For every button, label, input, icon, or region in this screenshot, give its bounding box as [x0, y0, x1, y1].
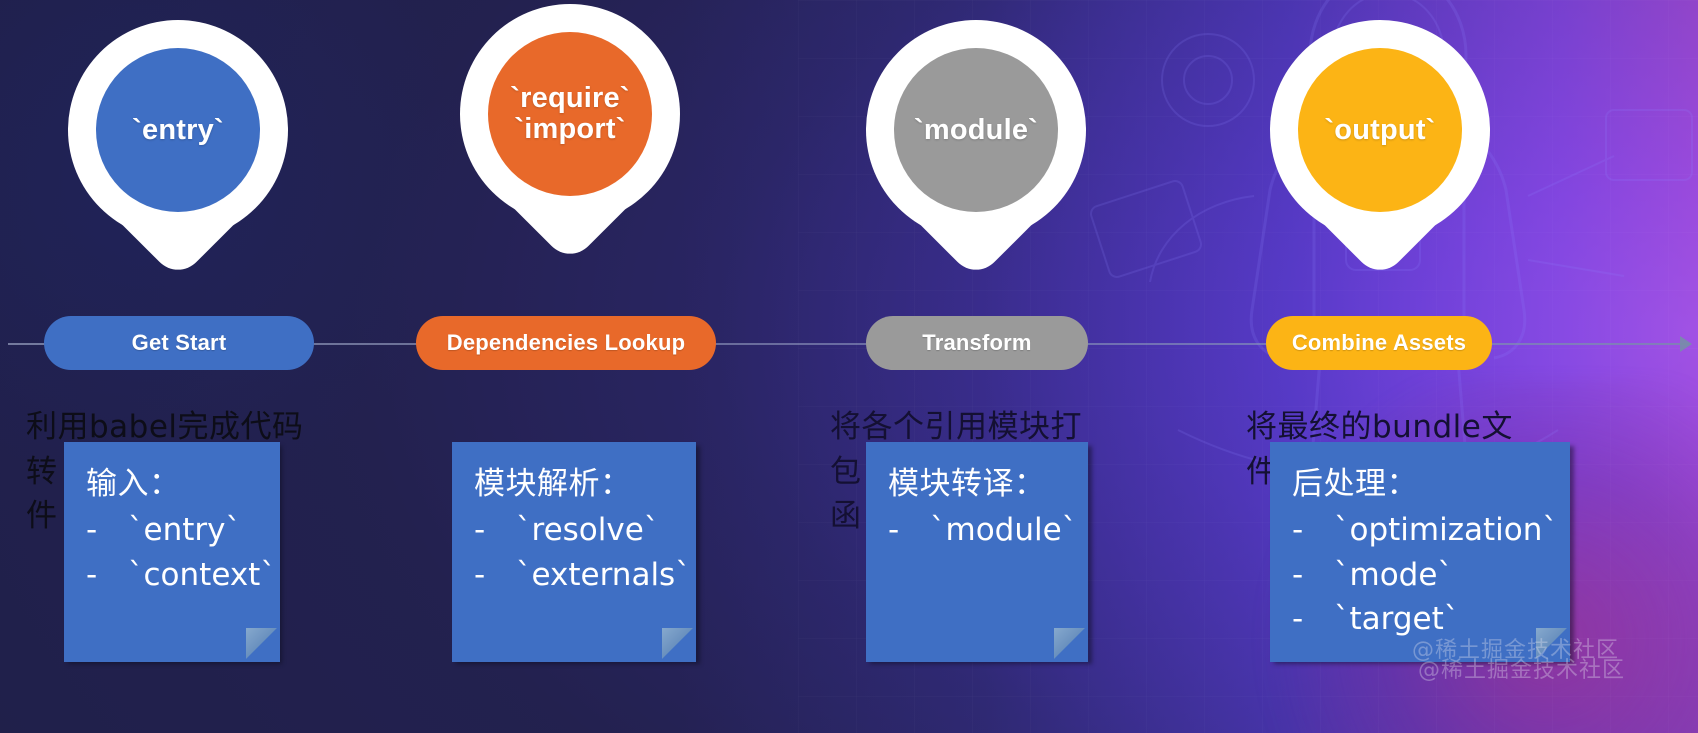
list-item: - `mode`: [1292, 555, 1550, 595]
card-fold-corner-icon: [1054, 628, 1088, 662]
card-dependencies-item-0: `resolve`: [516, 510, 659, 550]
pill-transform[interactable]: Transform: [866, 316, 1088, 370]
card-dependencies-title: 模块解析：: [474, 464, 676, 504]
slide-canvas: `entry` Get Start 利用babel完成代码 转 件 输入： - …: [0, 0, 1698, 733]
card-dependencies-list: - `resolve` - `externals`: [474, 510, 676, 595]
pin-require-import[interactable]: `require` `import`: [460, 4, 680, 294]
list-item: - `externals`: [474, 555, 676, 595]
pin-entry[interactable]: `entry`: [68, 20, 288, 310]
pin-require-import-label: `require` `import`: [488, 32, 652, 196]
card-output-item-1: `mode`: [1334, 555, 1453, 595]
bullet-dash: -: [86, 555, 102, 595]
pin-output[interactable]: `output`: [1270, 20, 1490, 310]
pill-combine-assets-label: Combine Assets: [1292, 330, 1466, 356]
list-item: - `module`: [888, 510, 1068, 550]
pin-require-line-1: `require`: [510, 83, 629, 114]
pill-get-start[interactable]: Get Start: [44, 316, 314, 370]
card-fold-corner-icon: [662, 628, 696, 662]
list-item: - `context`: [86, 555, 260, 595]
card-entry-title: 输入：: [86, 464, 260, 504]
pin-output-line-1: `output`: [1324, 115, 1435, 146]
pill-dependencies-lookup-label: Dependencies Lookup: [447, 330, 686, 356]
card-transform-title: 模块转译：: [888, 464, 1068, 504]
pin-module[interactable]: `module`: [866, 20, 1086, 310]
bullet-dash: -: [1292, 510, 1308, 550]
pin-output-label: `output`: [1298, 48, 1462, 212]
bullet-dash: -: [86, 510, 102, 550]
bullet-dash: -: [888, 510, 904, 550]
pill-dependencies-lookup[interactable]: Dependencies Lookup: [416, 316, 716, 370]
list-item: - `optimization`: [1292, 510, 1550, 550]
bullet-dash: -: [1292, 555, 1308, 595]
card-entry: 输入： - `entry` - `context`: [64, 442, 280, 662]
card-dependencies: 模块解析： - `resolve` - `externals`: [452, 442, 696, 662]
pin-entry-label: `entry`: [96, 48, 260, 212]
card-transform: 模块转译： - `module`: [866, 442, 1088, 662]
card-entry-item-1: `context`: [128, 555, 276, 595]
card-output-title: 后处理：: [1292, 464, 1550, 504]
pill-get-start-label: Get Start: [132, 330, 227, 356]
card-entry-list: - `entry` - `context`: [86, 510, 260, 595]
timeline-arrow-icon: [1680, 336, 1692, 352]
pill-transform-label: Transform: [922, 330, 1031, 356]
card-transform-item-0: `module`: [930, 510, 1077, 550]
list-item: - `resolve`: [474, 510, 676, 550]
bullet-dash: -: [474, 555, 490, 595]
bullet-dash: -: [474, 510, 490, 550]
card-entry-item-0: `entry`: [128, 510, 241, 550]
card-dependencies-item-1: `externals`: [516, 555, 691, 595]
pin-module-label: `module`: [894, 48, 1058, 212]
card-output: 后处理： - `optimization` - `mode` - `target…: [1270, 442, 1570, 662]
bullet-dash: -: [1292, 599, 1308, 639]
pin-require-line-2: `import`: [514, 114, 625, 145]
card-fold-corner-icon: [246, 628, 280, 662]
watermark-line-2: @稀土掘金技术社区: [1418, 652, 1625, 684]
card-output-list: - `optimization` - `mode` - `target`: [1292, 510, 1550, 639]
pin-module-line-1: `module`: [914, 115, 1038, 146]
pin-entry-line-1: `entry`: [132, 115, 224, 146]
pill-combine-assets[interactable]: Combine Assets: [1266, 316, 1492, 370]
card-transform-list: - `module`: [888, 510, 1068, 550]
card-output-item-0: `optimization`: [1334, 510, 1558, 550]
list-item: - `entry`: [86, 510, 260, 550]
